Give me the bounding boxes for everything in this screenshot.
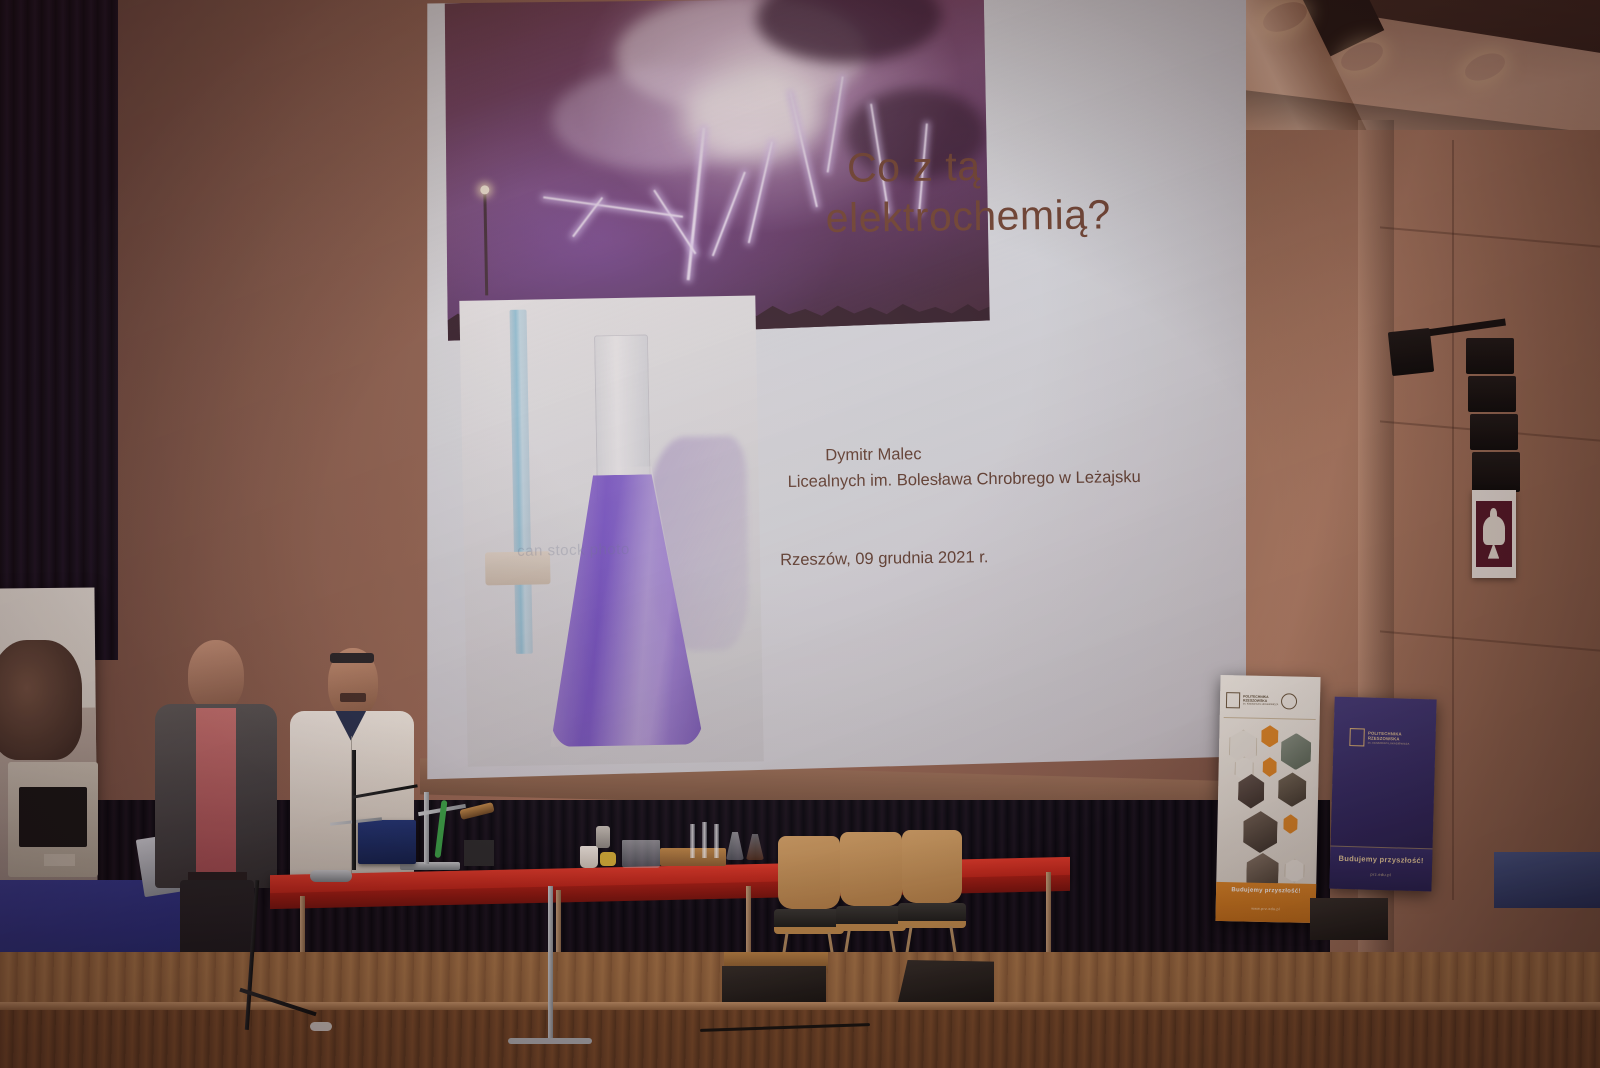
presenter-glasses-on-head bbox=[330, 653, 373, 663]
chair-3-back bbox=[902, 830, 962, 903]
chair-1 bbox=[778, 836, 840, 966]
chair-1-seat bbox=[774, 909, 843, 929]
banner-white-footer-text: Budujemy przyszłość! bbox=[1216, 887, 1316, 895]
test-tube-2 bbox=[702, 822, 707, 858]
pr-logo-mark-white bbox=[1226, 692, 1240, 708]
banner-blue-footer: Budujemy przyszłość! prz.edu.pl bbox=[1329, 845, 1432, 891]
second-logo-seal-icon bbox=[1281, 693, 1297, 709]
subwoofer-right bbox=[1310, 898, 1388, 940]
mic-stand-2 bbox=[352, 750, 356, 870]
hex-orange-1 bbox=[1261, 725, 1278, 747]
chair-3-seat bbox=[898, 903, 965, 923]
chair-2-seat bbox=[836, 906, 905, 926]
lab-dark-panel bbox=[464, 840, 494, 866]
screenshot-root: can stock photo Co z tą elektrochemią? D… bbox=[0, 0, 1600, 1068]
banner-white-politechnika: POLITECHNIKA RZESZOWSKA im. IGNACEGO ŁUK… bbox=[1215, 675, 1320, 923]
stage-equipment-monitor bbox=[8, 762, 98, 877]
hex-photo-4 bbox=[1243, 811, 1278, 854]
banner-blue-logo-row: POLITECHNIKA RZESZOWSKA im. IGNACEGO ŁUK… bbox=[1350, 728, 1428, 748]
eagle-wings bbox=[1483, 516, 1505, 544]
equipment-label bbox=[44, 854, 75, 866]
hex-photo-3 bbox=[1278, 772, 1307, 807]
stage-monitor-1 bbox=[722, 966, 826, 1002]
hex-orange-2 bbox=[1262, 757, 1276, 777]
hex-photo-1 bbox=[1281, 733, 1312, 771]
screen-vignette bbox=[424, 0, 1246, 784]
line-array-speakers bbox=[1388, 312, 1518, 502]
stage-front-face bbox=[0, 1010, 1600, 1068]
banner-blue-url: prz.edu.pl bbox=[1330, 871, 1432, 879]
stand-foot bbox=[508, 1038, 592, 1044]
beaker-group-1 bbox=[622, 840, 660, 868]
grey-bottle bbox=[596, 826, 610, 848]
wall-seam-vertical bbox=[1452, 140, 1454, 900]
banner-white-url: www.prz.edu.pl bbox=[1216, 906, 1316, 912]
banner-blue-footer-text: Budujemy przyszłość! bbox=[1330, 853, 1432, 865]
banner-blue-logo-text: POLITECHNIKA RZESZOWSKA im. IGNACEGO ŁUK… bbox=[1368, 730, 1410, 745]
equipment-screen bbox=[19, 787, 87, 847]
moderator-head bbox=[188, 640, 244, 712]
banner-white-logo-row: POLITECHNIKA RZESZOWSKA im. IGNACEGO ŁUK… bbox=[1226, 685, 1315, 716]
polish-eagle-emblem bbox=[1472, 490, 1516, 578]
banner-blue-politechnika: POLITECHNIKA RZESZOWSKA im. IGNACEGO ŁUK… bbox=[1329, 697, 1436, 892]
yellow-object bbox=[600, 852, 616, 866]
speaker-cabinet-3 bbox=[1470, 414, 1518, 450]
banner-white-logo-text: POLITECHNIKA RZESZOWSKA im. IGNACEGO ŁUK… bbox=[1243, 694, 1278, 706]
chair-3 bbox=[902, 830, 962, 960]
mic-head bbox=[310, 1022, 332, 1031]
lab-stand-rod bbox=[424, 792, 429, 864]
projection-screen: can stock photo Co z tą elektrochemią? D… bbox=[424, 0, 1246, 784]
hex-outline-3 bbox=[1284, 858, 1305, 883]
stand-pole-tall bbox=[548, 886, 553, 1042]
speaker-cabinet-4 bbox=[1472, 452, 1520, 492]
audience-person-head bbox=[0, 640, 82, 760]
stage-monitor-2 bbox=[898, 960, 994, 1002]
chair-1-back bbox=[778, 836, 840, 909]
banner-white-footer: Budujemy przyszłość! www.prz.edu.pl bbox=[1215, 882, 1316, 923]
speaker-cabinet-2 bbox=[1468, 376, 1516, 412]
test-tube-3 bbox=[714, 824, 719, 858]
stage-curtain-left bbox=[0, 0, 118, 660]
speaker-cabinet-1 bbox=[1466, 338, 1514, 374]
hex-orange-3 bbox=[1283, 814, 1297, 834]
presenter-moustache bbox=[340, 693, 366, 702]
pr-logo-mark-blue bbox=[1350, 728, 1365, 746]
moderator-shirt bbox=[196, 708, 237, 884]
chair-2-back bbox=[840, 832, 902, 906]
banner-white-divider bbox=[1224, 717, 1316, 720]
white-cup bbox=[580, 846, 598, 868]
chair-2 bbox=[840, 832, 902, 964]
lab-dish-metal bbox=[310, 870, 352, 882]
test-tube-1 bbox=[690, 824, 695, 858]
speaker-box-wall bbox=[1388, 328, 1434, 376]
equipment-case-right bbox=[1494, 852, 1600, 908]
power-supply-box bbox=[358, 820, 416, 864]
